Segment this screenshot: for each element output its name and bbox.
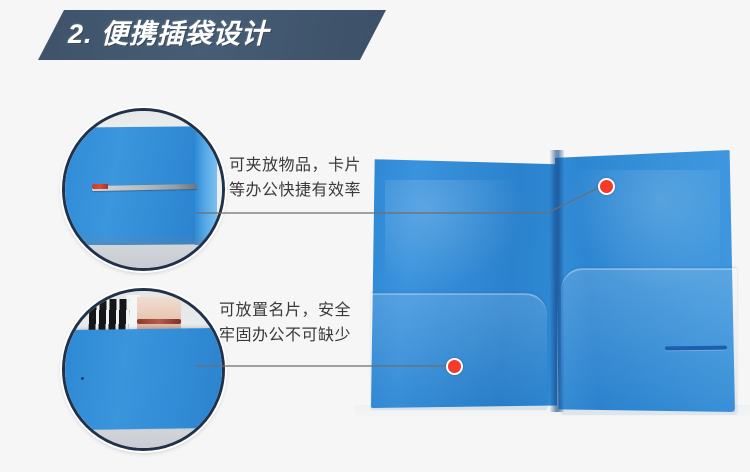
inset-card-rivet xyxy=(81,377,84,380)
callout-card-pocket: 可放置名片，安全 牢固办公不可缺少 xyxy=(219,298,351,348)
callout-card-pocket-line2: 牢固办公不可缺少 xyxy=(219,323,351,348)
marker-card-pocket xyxy=(446,358,463,375)
banner-title: 2. 便携插袋设计 xyxy=(68,10,269,60)
callout-pen-slot-line2: 等办公快捷有效率 xyxy=(229,178,361,203)
section-banner: 2. 便携插袋设计 xyxy=(38,10,386,60)
callout-card-pocket-line1: 可放置名片，安全 xyxy=(219,298,351,323)
folder-pocket-left xyxy=(371,293,547,410)
product-photo xyxy=(355,120,750,420)
business-card-slot xyxy=(665,346,727,351)
page-root: 2. 便携插袋设计 xyxy=(0,0,750,472)
callout-pen-slot: 可夹放物品，卡片 等办公快捷有效率 xyxy=(229,153,361,203)
inset-card-photo-detail xyxy=(137,319,181,324)
inset-card-floor xyxy=(65,427,222,451)
inset-pen-folder-edge xyxy=(195,124,217,247)
folder-pocket-right xyxy=(561,268,737,415)
inset-card-folder xyxy=(62,328,225,430)
detail-inset-pen xyxy=(62,108,225,271)
detail-inset-card xyxy=(62,288,225,451)
marker-pen-slot xyxy=(598,178,615,195)
callout-pen-slot-line1: 可夹放物品，卡片 xyxy=(229,153,361,178)
inset-pen-floor xyxy=(65,245,222,271)
inset-pen-clip xyxy=(92,184,108,189)
